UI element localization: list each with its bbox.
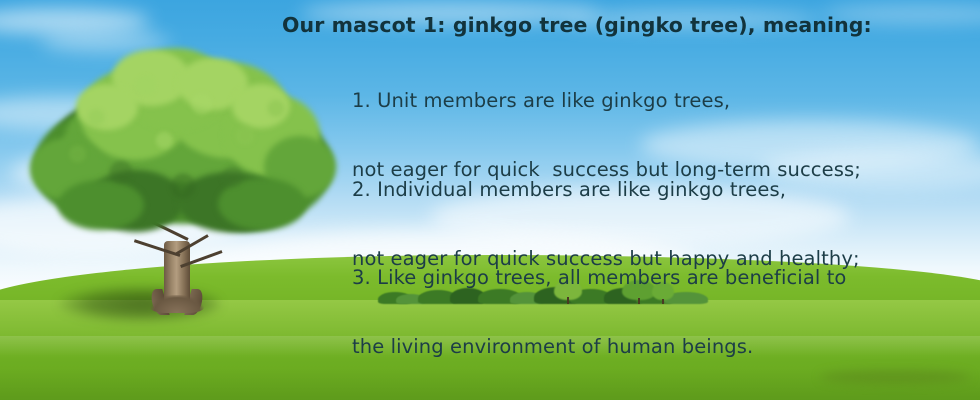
mascot-point-3: 3. Like ginkgo trees, all members are be… xyxy=(352,224,846,400)
mascot-banner: Our mascot 1: ginkgo tree (gingko tree),… xyxy=(0,0,980,400)
mascot-point-2-line-1: 2. Individual members are like ginkgo tr… xyxy=(352,174,860,205)
page-title: Our mascot 1: ginkgo tree (gingko tree),… xyxy=(282,13,872,37)
text-layer: Our mascot 1: ginkgo tree (gingko tree),… xyxy=(0,0,980,400)
mascot-point-3-line-1: 3. Like ginkgo trees, all members are be… xyxy=(352,262,846,293)
mascot-point-3-line-2: the living environment of human beings. xyxy=(352,331,846,362)
mascot-point-1-line-1: 1. Unit members are like ginkgo trees, xyxy=(352,85,861,116)
